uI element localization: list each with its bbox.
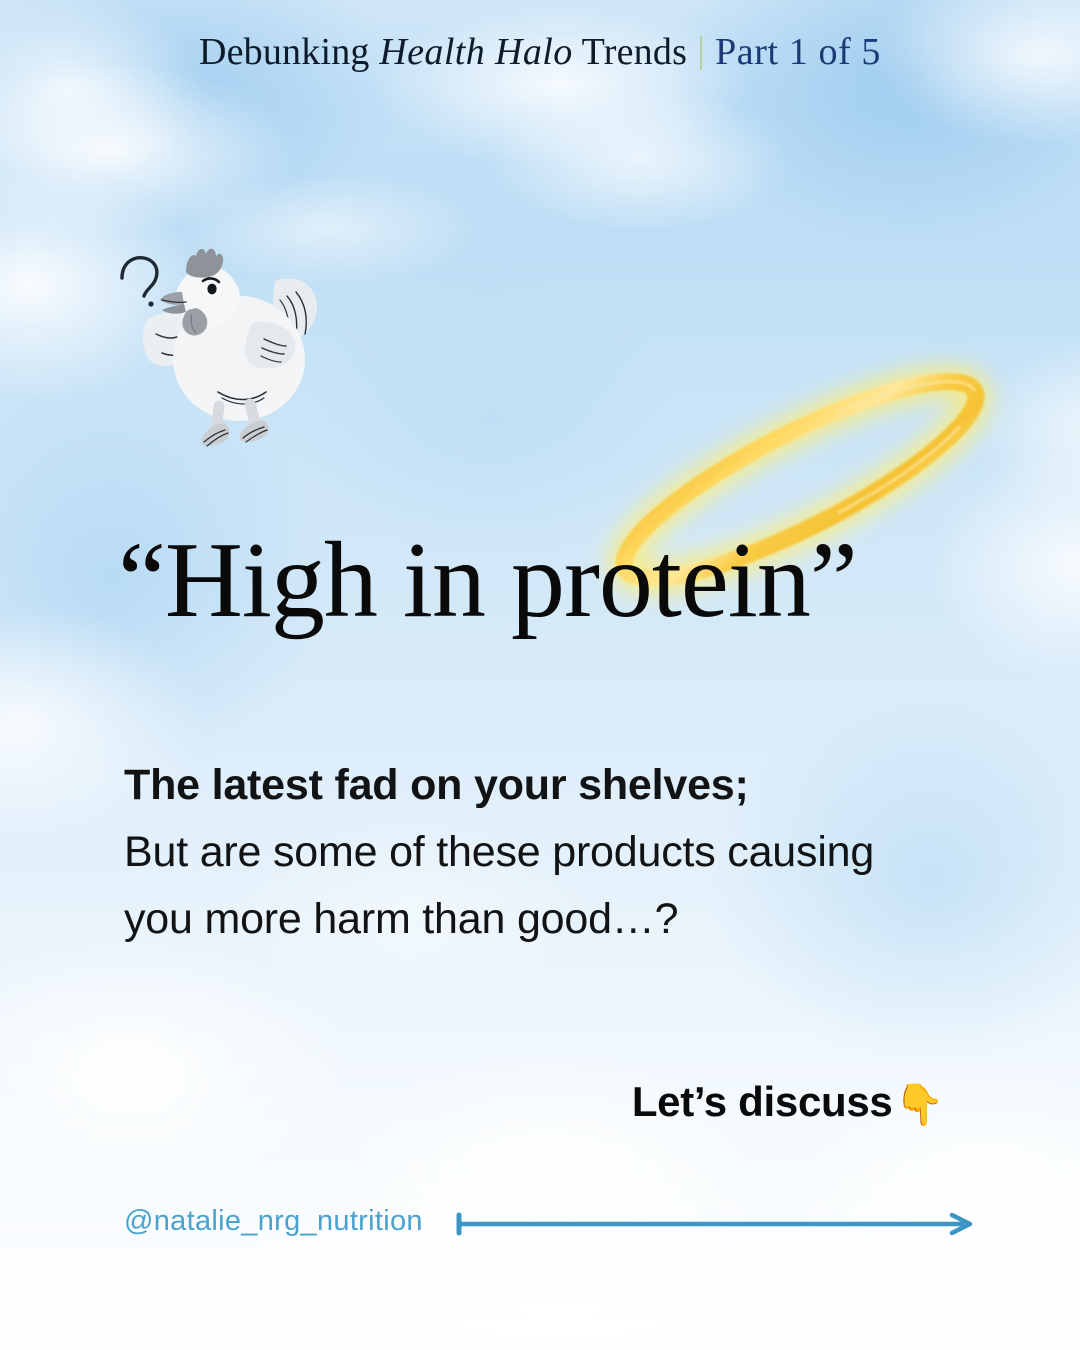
header-divider xyxy=(700,36,702,70)
pointing-down-hand-icon: 👇 xyxy=(894,1083,944,1127)
post-canvas: Debunking Health Halo TrendsPart 1 of 5 xyxy=(0,0,1080,1350)
confused-chicken-illustration xyxy=(104,234,344,464)
body-lead-line: The latest fad on your shelves; xyxy=(124,752,914,819)
header-part-counter: Part 1 of 5 xyxy=(715,31,881,73)
page-title: “High in protein” xyxy=(118,527,998,635)
instagram-handle[interactable]: @natalie_nrg_nutrition xyxy=(124,1205,423,1238)
swipe-right-arrow-icon xyxy=(456,1209,984,1239)
chicken-eye xyxy=(207,284,216,295)
header-suffix: Trends xyxy=(582,31,687,73)
cta-lets-discuss: Let’s discuss👇 xyxy=(0,1078,944,1128)
question-mark-dot xyxy=(148,301,153,306)
cta-label: Let’s discuss xyxy=(632,1078,893,1125)
body-rest-text: But are some of these products causing y… xyxy=(124,819,914,953)
footer: @natalie_nrg_nutrition xyxy=(124,1205,1004,1251)
question-mark-icon xyxy=(122,258,157,296)
sky-background xyxy=(0,0,1080,1350)
header-emphasis: Health Halo xyxy=(379,31,572,73)
header-kicker: Debunking Health Halo TrendsPart 1 of 5 xyxy=(0,32,1080,74)
chicken-beak-lower xyxy=(162,304,186,314)
body-copy: The latest fad on your shelves; But are … xyxy=(124,752,914,953)
header-prefix: Debunking xyxy=(199,31,370,73)
